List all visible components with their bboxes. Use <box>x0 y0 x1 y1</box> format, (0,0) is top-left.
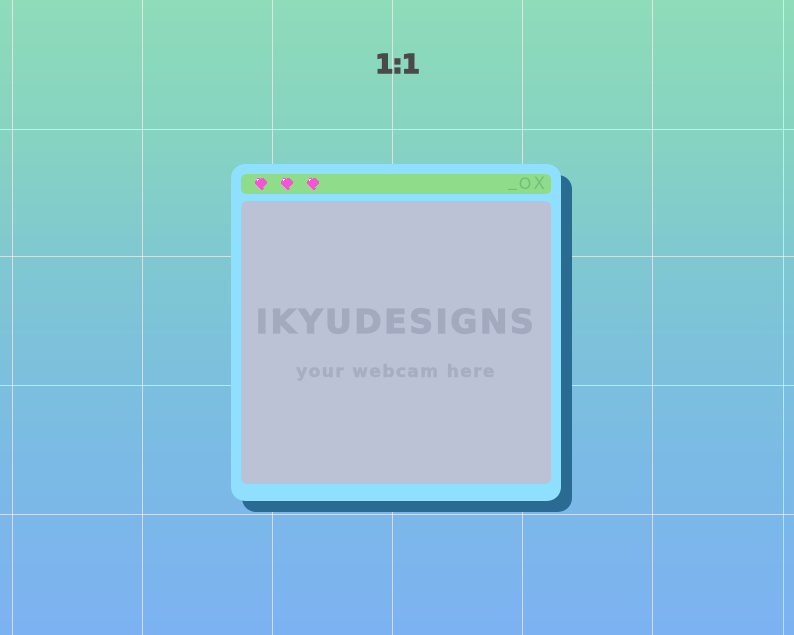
window-controls[interactable]: _ O X <box>508 176 545 193</box>
gridline-horizontal <box>0 129 794 130</box>
brand-title: IKYUDESIGNS <box>256 305 537 338</box>
gridline-vertical <box>652 0 653 635</box>
close-button[interactable]: X <box>533 176 545 193</box>
gridline-horizontal <box>0 514 794 515</box>
brand-subtitle: your webcam here <box>296 364 496 381</box>
aspect-ratio-label: 1:1 <box>0 52 794 78</box>
window-title-bar[interactable]: _ O X <box>241 174 551 194</box>
maximize-button[interactable]: O <box>519 176 532 192</box>
heart-icon <box>254 177 269 191</box>
webcam-overlay-window[interactable]: _ O X IKYUDESIGNS your webcam here <box>231 164 561 501</box>
heart-decoration-group <box>254 177 321 191</box>
minimize-button[interactable]: _ <box>508 173 517 190</box>
gridline-vertical <box>783 0 784 635</box>
gridline-vertical <box>142 0 143 635</box>
mockup-canvas: 1:1 <box>0 0 794 635</box>
gridline-vertical <box>12 0 13 635</box>
webcam-placeholder-screen: IKYUDESIGNS your webcam here <box>241 201 551 484</box>
heart-icon <box>280 177 295 191</box>
heart-icon <box>306 177 321 191</box>
